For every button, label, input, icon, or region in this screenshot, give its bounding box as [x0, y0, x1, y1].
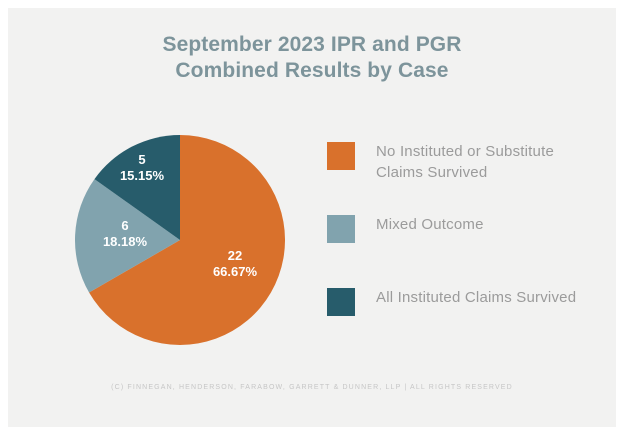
legend-label-1: Mixed Outcome	[376, 214, 484, 235]
legend-label-2: All Instituted Claims Survived	[376, 287, 576, 308]
legend-swatch-icon-1	[327, 215, 355, 243]
legend-swatch-icon-0	[327, 142, 355, 170]
legend-label-0: No Instituted or Substitute Claims Survi…	[376, 141, 591, 183]
pie-graphic: 22 66.67% 6 18.18% 5 15.15%	[75, 135, 285, 345]
copyright-footer: (C) FINNEGAN, HENDERSON, FARABOW, GARRET…	[8, 383, 616, 393]
legend-swatch-icon-2	[327, 288, 355, 316]
pie-chart: 22 66.67% 6 18.18% 5 15.15% No Institute…	[8, 8, 616, 427]
legend-item-all-instituted-claims-survived[interactable]: All Instituted Claims Survived	[327, 287, 607, 316]
legend-item-mixed-outcome[interactable]: Mixed Outcome	[327, 214, 607, 243]
slide-panel: September 2023 IPR and PGR Combined Resu…	[8, 8, 616, 427]
slide-canvas: September 2023 IPR and PGR Combined Resu…	[0, 0, 624, 436]
legend-item-no-instituted-or-substitute-claims-survived[interactable]: No Instituted or Substitute Claims Survi…	[327, 141, 607, 183]
pie-svg	[75, 135, 285, 345]
